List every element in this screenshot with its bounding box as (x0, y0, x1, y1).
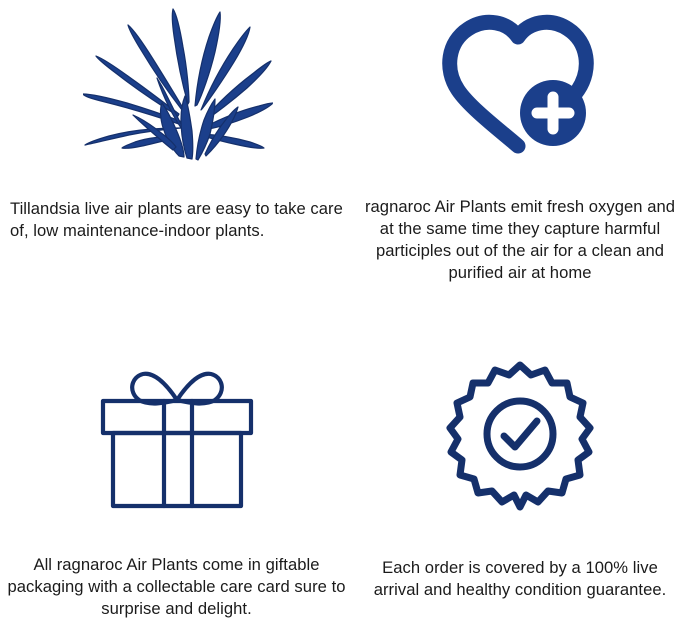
feature-text-air-plant-care: Tillandsia live air plants are easy to t… (7, 198, 348, 242)
heart-plus-icon (440, 6, 600, 156)
feature-card-air-plant-care: Tillandsia live air plants are easy to t… (0, 0, 357, 308)
feature-text-live-arrival-guarantee: Each order is covered by a 100% live arr… (360, 557, 679, 601)
feature-text-giftable-packaging: All ragnaroc Air Plants come in giftable… (7, 554, 347, 620)
feature-card-live-arrival-guarantee: Each order is covered by a 100% live arr… (357, 308, 679, 617)
feature-card-giftable-packaging: All ragnaroc Air Plants come in giftable… (0, 308, 357, 617)
gift-box-icon (97, 360, 257, 510)
guarantee-badge-icon (445, 360, 595, 512)
feature-text-fresh-oxygen: ragnaroc Air Plants emit fresh oxygen an… (360, 196, 679, 284)
air-plant-icon (83, 4, 273, 162)
feature-grid: Tillandsia live air plants are easy to t… (0, 0, 679, 617)
feature-card-fresh-oxygen: ragnaroc Air Plants emit fresh oxygen an… (357, 0, 679, 308)
